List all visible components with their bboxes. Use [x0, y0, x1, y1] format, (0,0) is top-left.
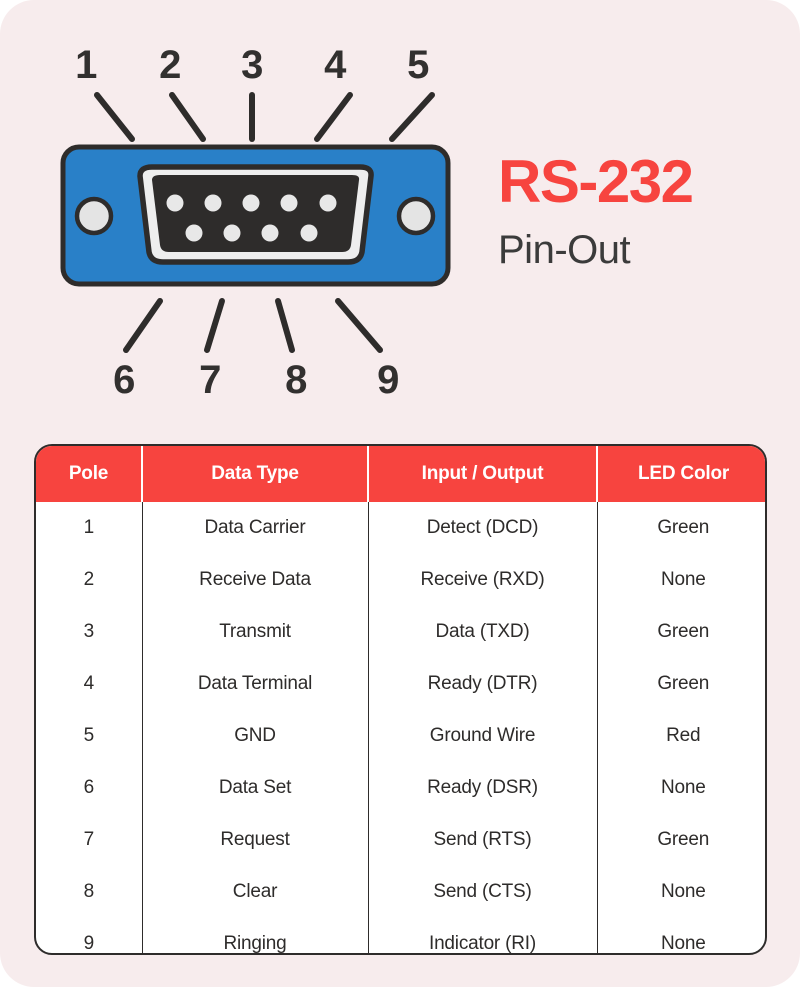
pin-hole-7: [224, 225, 241, 242]
screw-hole-right: [399, 199, 433, 233]
connector-diagram: 1 2 3 4 5 6 7 8 9: [0, 0, 800, 420]
leader-line-1: [97, 95, 132, 139]
pin-hole-9: [301, 225, 318, 242]
leader-line-9: [338, 301, 380, 350]
table-row: 2 Receive Data Receive (RXD) None: [36, 554, 767, 606]
pin-hole-8: [262, 225, 279, 242]
leader-line-8: [278, 301, 292, 350]
cell-input-output: Receive (RXD): [368, 554, 597, 606]
cell-pole: 4: [36, 658, 142, 710]
cell-pole: 2: [36, 554, 142, 606]
cell-data-type: Data Terminal: [142, 658, 368, 710]
table-row: 9 Ringing Indicator (RI) None: [36, 918, 767, 955]
column-header-pole: Pole: [36, 446, 142, 502]
leader-line-4: [317, 95, 350, 139]
pin-hole-1: [167, 195, 184, 212]
pin-hole-5: [320, 195, 337, 212]
pin-hole-2: [205, 195, 222, 212]
leader-line-7: [207, 301, 222, 350]
table-header-row: Pole Data Type Input / Output LED Color: [36, 446, 767, 502]
cell-data-type: Data Carrier: [142, 502, 368, 554]
cell-pole: 1: [36, 502, 142, 554]
cell-data-type: Clear: [142, 866, 368, 918]
cell-led-color: None: [597, 554, 767, 606]
table-row: 3 Transmit Data (TXD) Green: [36, 606, 767, 658]
column-header-input-output: Input / Output: [368, 446, 597, 502]
pinout-card: 1 2 3 4 5 6 7 8 9: [0, 0, 800, 987]
cell-led-color: None: [597, 762, 767, 814]
cell-led-color: None: [597, 918, 767, 955]
leader-line-5: [392, 95, 432, 139]
pin-hole-6: [186, 225, 203, 242]
leader-line-2: [172, 95, 203, 139]
leader-lines-top: [97, 95, 432, 139]
table-row: 7 Request Send (RTS) Green: [36, 814, 767, 866]
table-row: 6 Data Set Ready (DSR) None: [36, 762, 767, 814]
screw-hole-left: [77, 199, 111, 233]
cell-led-color: Green: [597, 814, 767, 866]
leader-lines-bottom: [126, 301, 380, 350]
cell-input-output: Indicator (RI): [368, 918, 597, 955]
pin-hole-3: [243, 195, 260, 212]
cell-pole: 5: [36, 710, 142, 762]
cell-input-output: Ground Wire: [368, 710, 597, 762]
cell-input-output: Data (TXD): [368, 606, 597, 658]
cell-led-color: Green: [597, 606, 767, 658]
table-row: 1 Data Carrier Detect (DCD) Green: [36, 502, 767, 554]
pinout-table: Pole Data Type Input / Output LED Color …: [36, 446, 767, 955]
cell-data-type: Receive Data: [142, 554, 368, 606]
table-row: 8 Clear Send (CTS) None: [36, 866, 767, 918]
leader-line-6: [126, 301, 160, 350]
cell-input-output: Detect (DCD): [368, 502, 597, 554]
cell-led-color: Green: [597, 502, 767, 554]
table-body: 1 Data Carrier Detect (DCD) Green 2 Rece…: [36, 502, 767, 955]
cell-input-output: Ready (DSR): [368, 762, 597, 814]
table-row: 5 GND Ground Wire Red: [36, 710, 767, 762]
cell-data-type: Ringing: [142, 918, 368, 955]
cell-led-color: None: [597, 866, 767, 918]
cell-data-type: Data Set: [142, 762, 368, 814]
cell-input-output: Send (RTS): [368, 814, 597, 866]
column-header-data-type: Data Type: [142, 446, 368, 502]
cell-pole: 8: [36, 866, 142, 918]
page-subtitle: Pin-Out: [498, 230, 778, 270]
cell-data-type: GND: [142, 710, 368, 762]
pin-hole-4: [281, 195, 298, 212]
cell-input-output: Send (CTS): [368, 866, 597, 918]
cell-data-type: Request: [142, 814, 368, 866]
connector-cavity: [152, 175, 359, 252]
cell-led-color: Red: [597, 710, 767, 762]
cell-pole: 9: [36, 918, 142, 955]
page-title: RS-232: [498, 152, 778, 212]
column-header-led-color: LED Color: [597, 446, 767, 502]
title-block: RS-232 Pin-Out: [498, 152, 778, 270]
cell-input-output: Ready (DTR): [368, 658, 597, 710]
pinout-table-container: Pole Data Type Input / Output LED Color …: [34, 444, 767, 955]
cell-pole: 6: [36, 762, 142, 814]
table-header: Pole Data Type Input / Output LED Color: [36, 446, 767, 502]
table-row: 4 Data Terminal Ready (DTR) Green: [36, 658, 767, 710]
cell-data-type: Transmit: [142, 606, 368, 658]
cell-pole: 7: [36, 814, 142, 866]
cell-pole: 3: [36, 606, 142, 658]
cell-led-color: Green: [597, 658, 767, 710]
